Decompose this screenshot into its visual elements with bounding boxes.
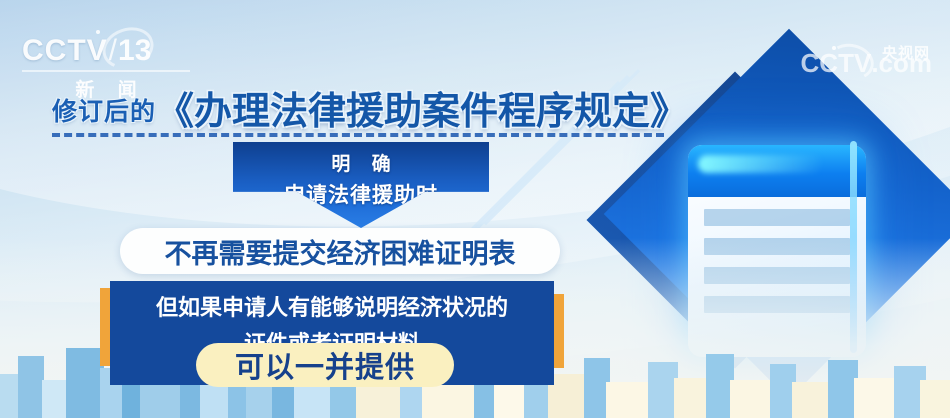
arrow-banner: 明 确 申请法律援助时 (233, 142, 489, 228)
skyline-building (66, 348, 104, 418)
skyline-building (730, 380, 774, 418)
broadcast-graphic-stage: CCTV / 13 新 闻 央视网 CCTV .com 修订后的 《办理法律援助… (0, 0, 950, 418)
headline: 修订后的 《办理法律援助案件程序规定》 (52, 92, 688, 131)
yellow-pill-callout: 可以一并提供 (196, 343, 454, 387)
white-pill-callout: 不再需要提交经济困难证明表 (120, 228, 560, 274)
headline-prefix: 修订后的 (52, 92, 156, 131)
white-pill-text: 不再需要提交经济困难证明表 (165, 232, 516, 271)
skyline-building (18, 356, 44, 418)
headline-underline (52, 133, 664, 137)
document-text-line (704, 209, 850, 226)
yellow-pill-text: 可以一并提供 (235, 344, 415, 386)
cctv-underline (22, 70, 190, 72)
cctv-dot-icon (96, 30, 100, 34)
cctv-wordmark: CCTV (22, 34, 108, 68)
cctvcom-cn-label: 央视网 (882, 42, 930, 63)
cctvcom-dot-icon (832, 46, 836, 50)
skyline-building (674, 378, 710, 418)
skyline-building (548, 374, 588, 418)
blue-box-line1: 但如果申请人有能够说明经济状况的 (110, 290, 554, 322)
skyline-building (792, 382, 832, 418)
skyline-building (920, 380, 950, 418)
document-glow-highlight (698, 155, 823, 173)
arrow-banner-line2: 申请法律援助时 (233, 179, 489, 209)
skyline-building (854, 378, 898, 418)
skyline-building (606, 382, 652, 418)
cctvcom-watermark: 央视网 CCTV .com (801, 34, 932, 79)
headline-title: 《办理法律援助案件程序规定》 (156, 93, 688, 131)
arrow-banner-line1: 明 确 (233, 149, 489, 176)
